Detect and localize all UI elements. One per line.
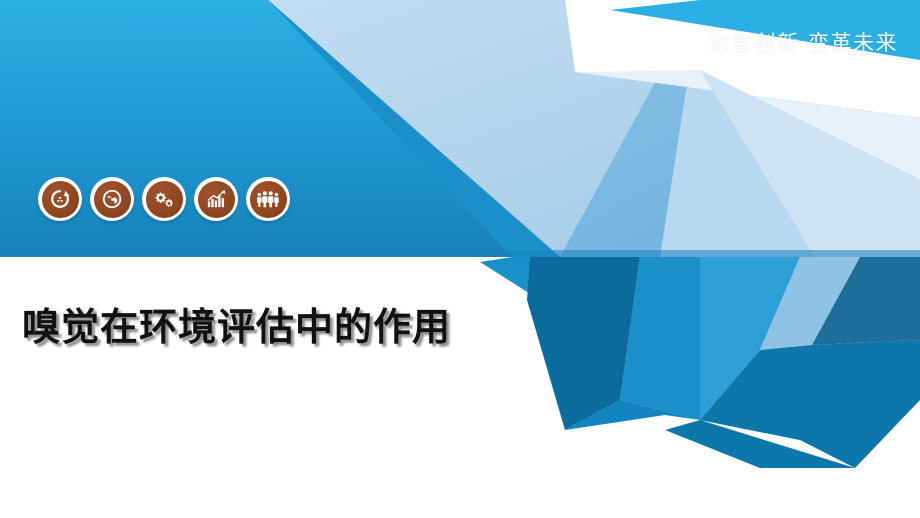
- header-tagline: 数智创新 变革未来: [710, 27, 898, 57]
- icon-disc: [42, 181, 79, 218]
- slide-canvas: 数智创新 变革未来: [0, 0, 920, 518]
- icon-badge-bar-chart[interactable]: [194, 177, 238, 221]
- background-artwork: [0, 0, 920, 518]
- globe-icon: [101, 188, 123, 210]
- bar-chart-icon: [205, 188, 228, 211]
- icon-disc: [250, 181, 287, 218]
- icon-disc: [94, 181, 131, 218]
- icon-badge-gears[interactable]: [142, 177, 186, 221]
- icon-badge-people-group[interactable]: [246, 177, 290, 221]
- icon-disc: [146, 181, 183, 218]
- slide-title: 嗅觉在环境评估中的作用: [22, 296, 451, 351]
- icon-disc: [198, 181, 235, 218]
- icon-badge-globe[interactable]: [90, 177, 134, 221]
- recycle-icon: [49, 188, 71, 210]
- gears-icon: [153, 188, 176, 211]
- people-group-icon: [256, 187, 280, 211]
- icon-strip: [38, 177, 290, 221]
- band-seam: [0, 250, 920, 257]
- icon-badge-recycle[interactable]: [38, 177, 82, 221]
